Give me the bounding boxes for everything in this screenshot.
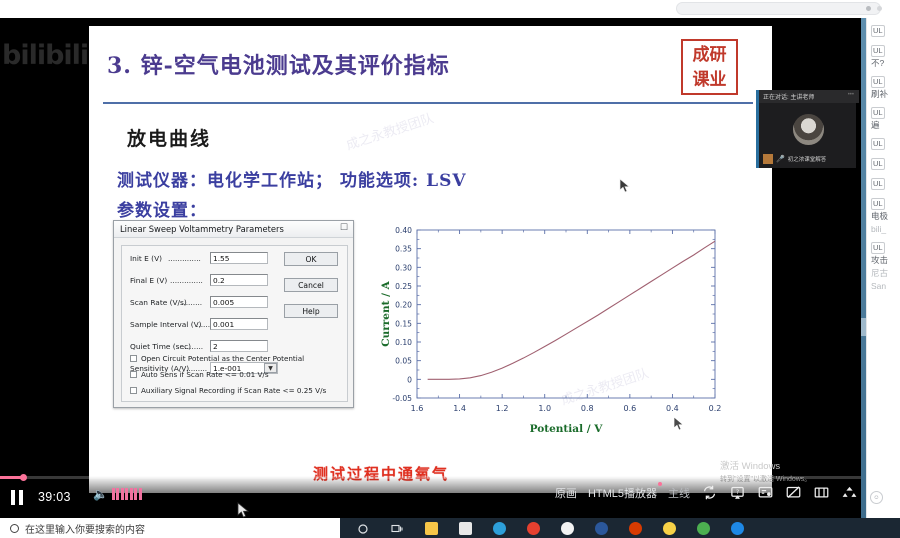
field-dots-0: .............. (168, 254, 201, 263)
player-type-label: HTML5播放器 (588, 488, 657, 500)
chat-user-badge: UL (871, 158, 885, 170)
y-tick-label: 0.15 (395, 319, 412, 328)
mouse-cursor-controlbar (237, 502, 250, 518)
browser-top-strip (0, 0, 900, 18)
pause-button[interactable] (0, 482, 34, 512)
presentation-slide: 成之永教授团队 成之永教授 成之永教授团队 3. 锌-空气电池测试及其评价指标 … (89, 26, 772, 493)
lsv-parameters-dialog[interactable]: Linear Sweep Voltammetry Parameters ☐ In… (113, 220, 354, 408)
y-tick-label: 0.35 (395, 245, 412, 254)
chat-user-badge: UL (871, 45, 885, 57)
dialog-titlebar[interactable]: Linear Sweep Voltammetry Parameters ☐ (114, 221, 353, 238)
task-view-icon-glyph (391, 522, 404, 535)
chat-message: UL (867, 171, 900, 191)
chrome-icon-glyph (527, 522, 540, 535)
taskbar-search[interactable]: 在这里输入你要搜索的内容 (0, 518, 340, 538)
help-button[interactable]: Help (284, 304, 338, 318)
y-tick-label: -0.05 (392, 394, 412, 403)
edge-icon-glyph (493, 522, 506, 535)
y-tick-label: 0.20 (395, 301, 412, 310)
call-more-icon[interactable]: ••• (848, 92, 854, 98)
chat-user-badge: UL (871, 107, 885, 119)
dialog-body: Init E (V) .............. 1.55 Final E (… (121, 245, 348, 402)
volume-control[interactable]: 🔈 (93, 487, 142, 501)
field-label-init-e: Init E (V) (130, 254, 162, 263)
ok-button[interactable]: OK (284, 252, 338, 266)
checkbox-icon[interactable] (130, 371, 137, 378)
cancel-button[interactable]: Cancel (284, 278, 338, 292)
browser-icon[interactable] (720, 518, 754, 538)
checkbox-label-1: Auto Sens if Scan Rate <= 0.01 V/s (141, 370, 269, 379)
lsv-chart: -0.0500.050.100.150.200.250.300.350.401.… (377, 216, 737, 446)
chat-message: UL电极 (867, 191, 900, 222)
time-display: 39:03 (38, 490, 71, 504)
video-player[interactable]: bilibili 成之永教授团队 成之永教授 成之永教授团队 3. 锌-空气电池… (0, 18, 866, 518)
chat-message: UL (867, 131, 900, 151)
browser-menu-dot-icon[interactable] (866, 6, 871, 11)
init-e-input[interactable]: 1.55 (210, 252, 268, 264)
checkbox-label-0: Open Circuit Potential as the Center Pot… (141, 354, 304, 363)
y-tick-label: 0.30 (395, 263, 412, 272)
field-dots-1: .............. (170, 276, 203, 285)
lsv-chart-svg: -0.0500.050.100.150.200.250.300.350.401.… (377, 216, 737, 446)
chat-message-list: ULUL不?UL刷补UL遍ULULULUL电极bili_UL攻击尼古San (867, 18, 900, 292)
browser-icon-glyph (731, 522, 744, 535)
word-icon[interactable] (584, 518, 618, 538)
file-explorer-icon-glyph (425, 522, 438, 535)
chat-message: UL (867, 151, 900, 171)
sample-interval-input[interactable]: 0.001 (210, 318, 268, 330)
checkbox-label-2: Auxiliary Signal Recording if Scan Rate … (141, 386, 326, 395)
slide-line-params: 参数设置： (117, 196, 207, 221)
x-axis-label: Potential / V (530, 423, 604, 435)
x-tick-label: 1.2 (496, 404, 509, 413)
chat-message-text: bili_ (871, 224, 897, 235)
red-seal-stamp: 成研 课业 (681, 39, 738, 95)
progress-bar[interactable] (0, 476, 866, 479)
field-dots-2: ......... (181, 298, 202, 307)
notes-icon-glyph (663, 522, 676, 535)
windows-taskbar[interactable]: 在这里输入你要搜索的内容 (0, 518, 900, 538)
slide-title-text: 3. 锌-空气电池测试及其评价指标 (107, 48, 707, 80)
y-tick-label: 0.25 (395, 282, 412, 291)
mouse-cursor-slide (619, 178, 631, 194)
chat-message: UL (867, 18, 900, 38)
chat-user-badge: UL (871, 25, 885, 37)
field-label-final-e: Final E (V) (130, 276, 167, 285)
x-tick-label: 0.4 (666, 404, 679, 413)
field-dots-4: ......... (182, 342, 203, 351)
seal-char-3: 课 (693, 68, 710, 93)
svg-text:?: ? (736, 489, 739, 496)
store-icon-glyph (459, 522, 472, 535)
call-participant-name: 初之浓课堂解答 (788, 155, 827, 163)
wechat-icon-glyph (697, 522, 710, 535)
progress-fill (0, 476, 22, 479)
quiet-time-input[interactable]: 2 (210, 340, 268, 352)
loop-icon[interactable] (701, 484, 718, 501)
call-header-text: 正在对话: 主讲老师 (763, 92, 814, 101)
x-tick-label: 1.4 (453, 404, 466, 413)
store-icon[interactable] (448, 518, 482, 538)
video-call-overlay[interactable]: 正在对话: 主讲老师 ••• 🎤 初之浓课堂解答 (756, 90, 856, 168)
chat-message: San (867, 279, 900, 292)
wps-icon-glyph (629, 522, 642, 535)
checkbox-open-circuit-potential[interactable]: Open Circuit Potential as the Center Pot… (130, 354, 304, 365)
chat-user-badge: UL (871, 76, 885, 88)
danmaku-off-icon[interactable] (785, 484, 802, 501)
chat-message-text: 刷补 (871, 89, 897, 100)
word-icon-glyph (595, 522, 608, 535)
chat-message-text: 尼古 (871, 268, 897, 279)
new-badge-dot (658, 482, 662, 486)
chat-message-text: San (871, 281, 897, 292)
chat-message: UL不? (867, 38, 900, 69)
field-label-sample-interval: Sample Interval (V) (130, 320, 202, 329)
mouse-cursor-chart (673, 416, 685, 432)
bilibili-watermark-logo: bilibili (2, 40, 88, 71)
chat-message-text: 攻击 (871, 255, 897, 266)
seal-char-4: 业 (710, 68, 727, 93)
help-icon[interactable]: ? (729, 484, 746, 501)
chat-message: UL攻击 (867, 235, 900, 266)
notes-icon[interactable] (652, 518, 686, 538)
x-tick-label: 0.8 (581, 404, 594, 413)
checkbox-auxiliary-signal[interactable]: Auxiliary Signal Recording if Scan Rate … (130, 386, 326, 397)
volume-icon[interactable]: 🔈 (93, 487, 108, 501)
widescreen-icon[interactable] (813, 484, 830, 501)
wps-icon[interactable] (618, 518, 652, 538)
search-input[interactable]: 在这里输入你要搜索的内容 (25, 521, 145, 536)
chrome-icon[interactable] (516, 518, 550, 538)
settings-icon-glyph (561, 522, 574, 535)
settings-icon[interactable] (550, 518, 584, 538)
browser-extra-dot-icon[interactable] (877, 6, 882, 11)
wechat-icon[interactable] (686, 518, 720, 538)
edge-icon[interactable] (482, 518, 516, 538)
player-control-bar[interactable]: 39:03 🔈 原画 HTML5播放器 主线 (0, 476, 866, 518)
microphone-icon[interactable]: 🎤 (776, 155, 785, 163)
dialog-title: Linear Sweep Voltammetry Parameters (120, 224, 284, 234)
fullscreen-icon[interactable] (841, 484, 858, 501)
field-label-scan-rate: Scan Rate (V/s) (130, 298, 187, 307)
chat-message: UL遍 (867, 100, 900, 131)
x-tick-label: 1.0 (538, 404, 551, 413)
call-thumb-icon (763, 154, 773, 164)
player-type-selector[interactable]: HTML5播放器 (588, 485, 657, 501)
y-tick-label: 0.05 (395, 357, 412, 366)
cortana-icon[interactable] (346, 518, 380, 538)
checkbox-icon[interactable] (130, 387, 137, 394)
chat-message-text: 不? (871, 58, 897, 69)
chat-message-text: 遍 (871, 120, 897, 131)
checkbox-icon[interactable] (130, 355, 137, 362)
line-selector[interactable]: 主线 (668, 485, 690, 501)
taskbar-app-icons (346, 518, 754, 538)
seal-char-2: 研 (710, 43, 727, 68)
checkbox-auto-sens[interactable]: Auto Sens if Scan Rate <= 0.01 V/s (130, 370, 269, 381)
avatar (793, 114, 824, 145)
field-dots-3: ...... (196, 320, 210, 329)
cortana-icon-glyph (357, 522, 370, 535)
chat-user-badge: UL (871, 138, 885, 150)
task-view-icon[interactable] (380, 518, 414, 538)
slide-line-instrument: 测试仪器：电化学工作站； 功能选项: LSV (117, 166, 467, 191)
search-icon (10, 524, 19, 533)
title-underline (103, 102, 753, 104)
slide-subheading: 放电曲线 (127, 124, 211, 151)
quality-selector[interactable]: 原画 (555, 485, 577, 501)
slide-title: 3. 锌-空气电池测试及其评价指标 (107, 48, 707, 96)
scan-rate-input[interactable]: 0.005 (210, 296, 268, 308)
x-tick-label: 1.6 (411, 404, 424, 413)
volume-bars[interactable] (112, 488, 142, 500)
call-header: 正在对话: 主讲老师 ••• (759, 90, 859, 103)
y-tick-label: 0.40 (395, 226, 412, 235)
chat-message: 尼古 (867, 266, 900, 279)
seal-char-1: 成 (693, 43, 710, 68)
call-footer: 🎤 初之浓课堂解答 (763, 153, 826, 164)
chat-message: bili_ (867, 222, 900, 235)
slide-watermark-1: 成之永教授团队 (343, 107, 435, 153)
close-icon[interactable]: ☐ (340, 223, 348, 233)
danmaku-chat-sidebar[interactable]: ULUL不?UL刷补UL遍ULULULUL电极bili_UL攻击尼古San ☺ (866, 18, 900, 518)
chat-user-badge: UL (871, 178, 885, 190)
final-e-input[interactable]: 0.2 (210, 274, 268, 286)
screen: bilibili 成之永教授团队 成之永教授 成之永教授团队 3. 锌-空气电池… (0, 0, 900, 538)
x-tick-label: 0.2 (709, 404, 722, 413)
address-bar[interactable] (676, 2, 881, 15)
chat-message-text: 电极 (871, 211, 897, 222)
x-tick-label: 0.6 (623, 404, 636, 413)
player-left-controls: 39:03 (0, 482, 71, 512)
y-axis-label: Current / A (380, 280, 392, 346)
chat-user-badge: UL (871, 242, 885, 254)
file-explorer-icon[interactable] (414, 518, 448, 538)
chat-message: UL刷补 (867, 69, 900, 100)
chat-user-badge: UL (871, 198, 885, 210)
y-tick-label: 0 (407, 375, 412, 384)
progress-knob[interactable] (20, 474, 27, 481)
chart-series-line (428, 241, 715, 379)
y-tick-label: 0.10 (395, 338, 412, 347)
player-right-controls: 原画 HTML5播放器 主线 ? (555, 484, 858, 501)
windows-watermark-line1: 激活 Windows (720, 458, 811, 472)
settings-panel-icon[interactable] (757, 484, 774, 501)
emoji-icon[interactable]: ☺ (870, 491, 883, 504)
